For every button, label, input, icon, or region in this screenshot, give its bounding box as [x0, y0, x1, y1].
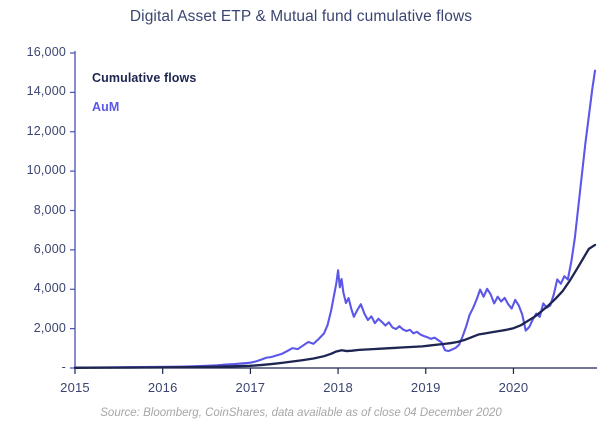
x-tick-label: 2018: [323, 380, 353, 395]
y-tick-label: 16,000: [4, 45, 66, 59]
y-tick-label: 2,000: [4, 321, 66, 335]
tick-marks: [70, 53, 513, 374]
y-tick-label: 4,000: [4, 281, 66, 295]
chart-container: Digital Asset ETP & Mutual fund cumulati…: [0, 0, 602, 427]
data-series-group: [75, 71, 595, 368]
y-axis-tick-labels: -2,0004,0006,0008,00010,00012,00014,0001…: [0, 0, 66, 427]
y-tick-label: 12,000: [4, 124, 66, 138]
legend-item-aum: AuM: [92, 100, 119, 114]
y-tick-label: 10,000: [4, 163, 66, 177]
source-note: Source: Bloomberg, CoinShares, data avai…: [0, 407, 602, 419]
x-tick-label: 2019: [411, 380, 441, 395]
chart-plot-area: [0, 0, 602, 427]
x-tick-label: 2017: [236, 380, 266, 395]
y-tick-label: 8,000: [4, 203, 66, 217]
series-line-cumulative-flows: [75, 245, 595, 368]
series-line-aum: [75, 71, 595, 368]
axis-group: [75, 51, 597, 368]
y-tick-label: 14,000: [4, 84, 66, 98]
x-tick-label: 2016: [148, 380, 178, 395]
y-tick-label: 6,000: [4, 242, 66, 256]
x-tick-label: 2020: [499, 380, 529, 395]
legend-item-cumulative-flows: Cumulative flows: [92, 71, 196, 85]
y-tick-label: -: [4, 360, 66, 374]
x-tick-label: 2015: [60, 380, 90, 395]
